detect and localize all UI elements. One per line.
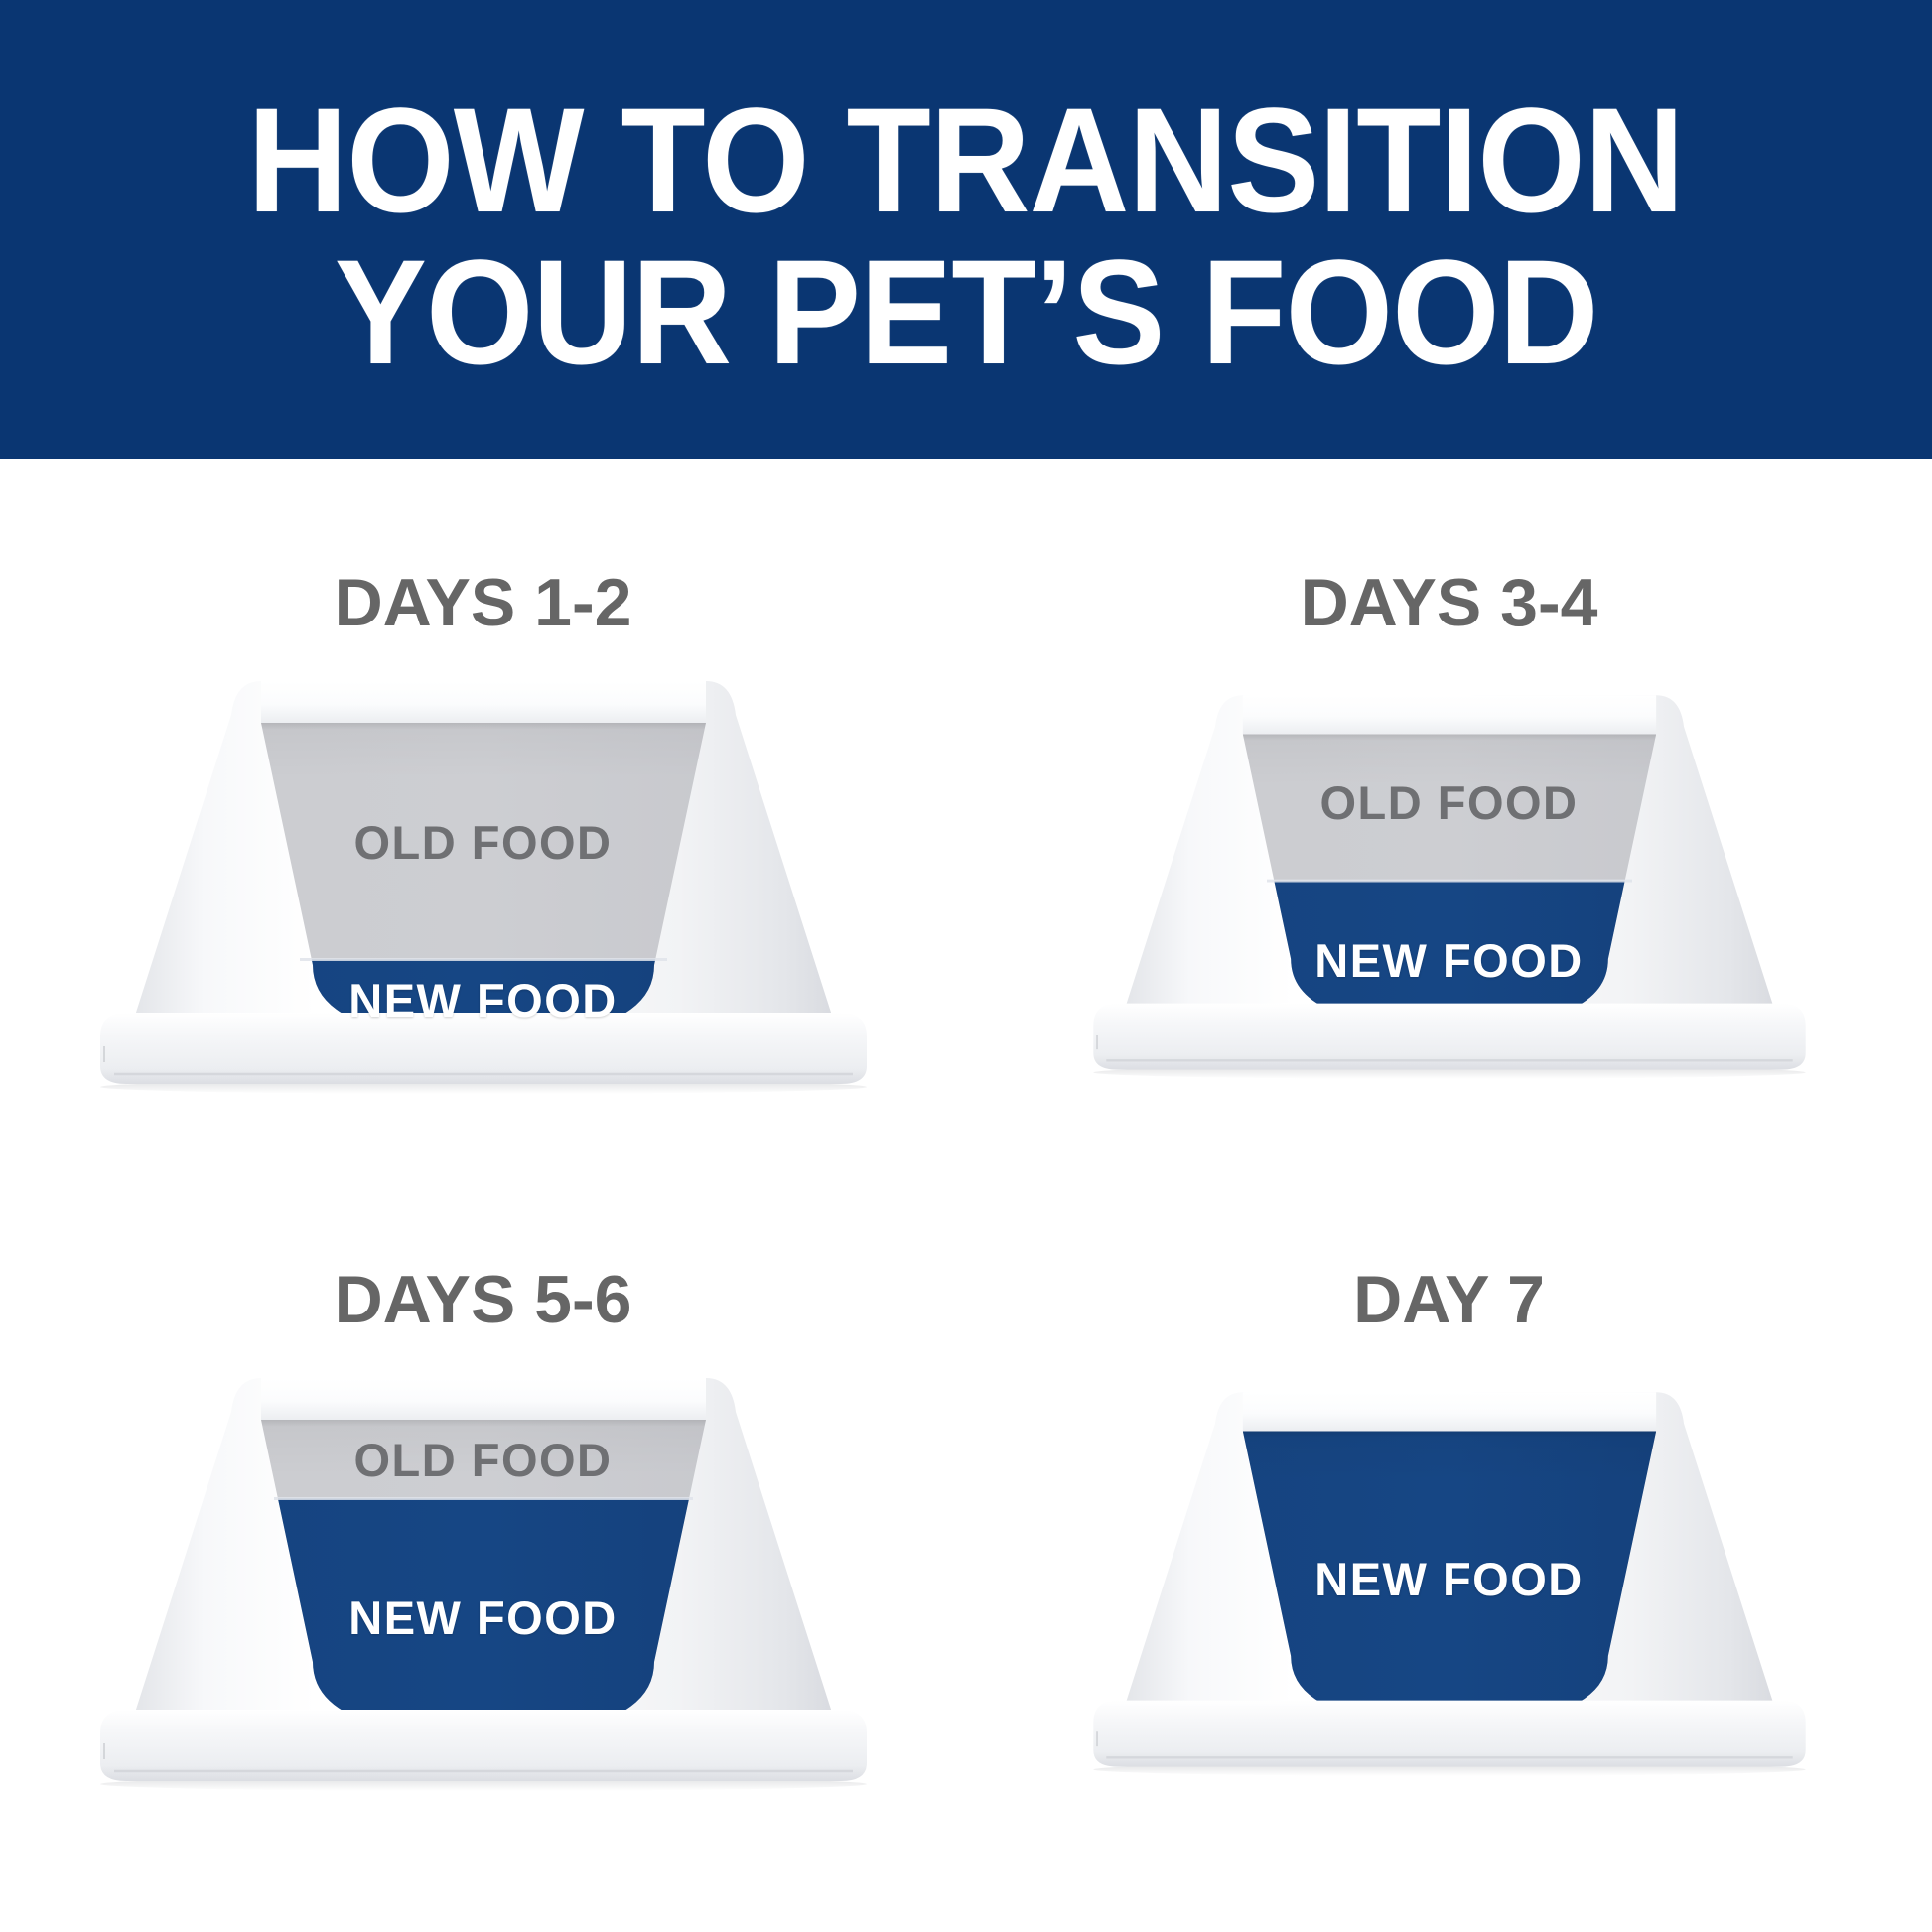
bowl-days-1-2: OLD FOODNEW FOOD	[76, 663, 891, 1100]
bowl-rim	[1242, 1392, 1655, 1431]
infographic-page: HOW TO TRANSITION YOUR PET’S FOOD DAYS 1…	[0, 0, 1932, 1932]
bowl-day-7: NEW FOOD	[1071, 1360, 1828, 1797]
bowl-illustration	[1071, 1360, 1828, 1797]
step-days-5-6: DAYS 5-6	[0, 1195, 966, 1932]
bowl-illustration	[76, 663, 891, 1100]
bowl-illustration	[1071, 663, 1828, 1100]
cavity-top-shade	[1071, 1428, 1828, 1483]
cavity-top-shade	[76, 1416, 891, 1475]
step-day-7: DAY 7	[966, 1195, 1932, 1932]
step-day-label: DAYS 5-6	[0, 1261, 966, 1338]
bowl-days-5-6: OLD FOODNEW FOOD	[76, 1360, 891, 1797]
step-day-label: DAY 7	[966, 1261, 1932, 1338]
bowl-illustration	[76, 1360, 891, 1797]
cavity-top-shade	[76, 719, 891, 778]
step-day-label: DAYS 3-4	[966, 564, 1932, 641]
step-day-label: DAYS 1-2	[0, 564, 966, 641]
bowl-rim	[261, 681, 706, 723]
bowl-rim	[1242, 695, 1655, 734]
page-title-line-1: HOW TO TRANSITION	[248, 84, 1684, 236]
bowl-rim	[261, 1378, 706, 1420]
step-days-1-2: DAYS 1-2	[0, 459, 966, 1195]
cavity-top-shade	[1071, 731, 1828, 786]
page-title-line-2: YOUR PET’S FOOD	[335, 236, 1598, 388]
step-days-3-4: DAYS 3-4	[966, 459, 1932, 1195]
header-banner: HOW TO TRANSITION YOUR PET’S FOOD	[0, 0, 1932, 459]
bowl-days-3-4: OLD FOODNEW FOOD	[1071, 663, 1828, 1100]
transition-steps-grid: DAYS 1-2	[0, 459, 1932, 1932]
